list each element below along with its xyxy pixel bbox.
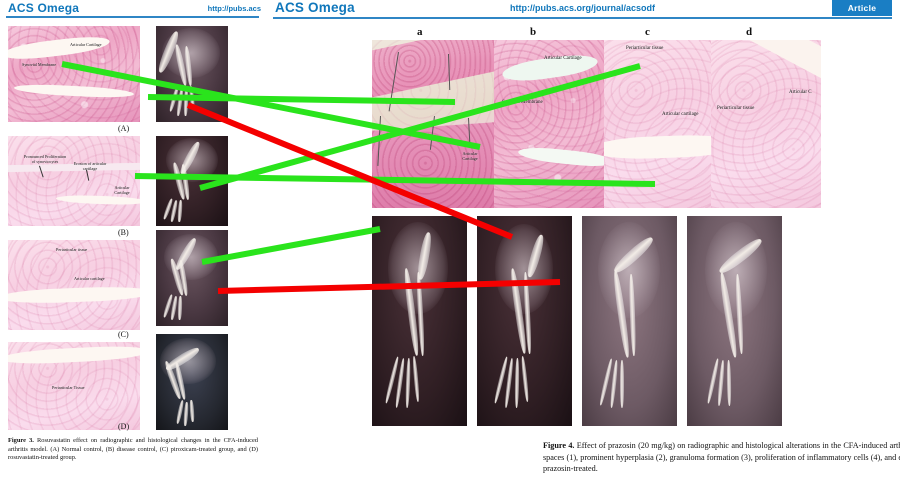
right-column-label-b: b [530,26,536,38]
left-sublabel-b: (B) [118,228,129,237]
right-column-label-c: c [645,26,650,38]
left-radiograph-c [156,230,228,326]
annotation-erosion: Erosion of articular cartilage [70,162,110,172]
left-histology-panel-a: Articular Cartilage Synovial Membrane [8,26,140,122]
article-badge: Article [832,0,892,16]
annotation-articular-cartilage: Articular Cartilage [544,56,582,62]
left-caption-text: Rosuvastatin effect on radiographic and … [8,437,258,461]
left-radiograph-a [156,26,228,122]
right-journal-page: ACS Omega http://pubs.acs.org/journal/ac… [265,0,900,482]
cartilage-band [8,33,111,62]
right-caption-text: Effect of prazosin (20 mg/kg) on radiogr… [543,441,900,473]
annotation-articular-cartilage: Articular Cartilage [70,43,102,48]
right-journal-title: ACS Omega [275,0,355,15]
annotation-articular-cartilage: Articular C [789,90,812,96]
right-column-label-a: a [417,26,423,38]
tissue-region [372,121,494,208]
right-figure-caption: Figure 4. Effect of prazosin (20 mg/kg) … [543,440,900,475]
right-histology-panel-d: Periarticular tissue Articular C [711,40,821,208]
right-histology-panel-b: Articular Cartilage Synovial Membrane [494,40,604,208]
right-histology-panel-c: Periarticular tissue Articular cartilage [604,40,711,208]
cartilage-band [14,83,134,99]
left-figure-caption: Figure 3. Rosuvastatin effect on radiogr… [8,437,258,463]
cartilage-band [56,194,140,205]
annotation-periarticular-tissue: Periarticular tissue [626,46,663,52]
annotation-articular-cartilage: Articular cartilage [662,112,699,118]
right-radiograph-a [372,216,467,426]
left-radiograph-b [156,136,228,226]
right-radiograph-b [477,216,572,426]
right-header-rule [273,17,892,19]
left-histology-panel-c: Periarticular tissue Articular cartilage [8,240,140,330]
left-sublabel-a: (A) [118,124,129,133]
left-histology-panel-b: Pronounced Proliferation of synoviocytes… [8,136,140,226]
right-radiograph-d [687,216,782,426]
left-journal-url: http://pubs.acs [208,4,261,13]
tissue-region [372,40,494,98]
left-running-header: ACS Omega http://pubs.acs [0,0,265,20]
annotation-periarticular-tissue: Periarticular tissue [56,248,87,253]
cartilage-band [8,344,140,366]
annotation-articular-cartilage: Articular Cartilage [456,152,484,162]
left-journal-title: ACS Omega [8,1,79,15]
left-histology-panel-d: Periarticular Tissue [8,342,140,430]
cartilage-band [604,133,711,160]
left-radiograph-d [156,334,228,430]
right-caption-label: Figure 4. [543,441,574,450]
right-column-label-d: d [746,26,752,38]
annotation-synovial-membrane: Synovial Membrane [502,100,543,106]
cartilage-band [734,40,821,93]
right-journal-url: http://pubs.acs.org/journal/acsodf [510,3,655,13]
annotation-periarticular-tissue: Periarticular Tissue [52,386,84,391]
right-running-header: ACS Omega http://pubs.acs.org/journal/ac… [265,0,900,20]
cartilage-band [518,145,604,169]
left-caption-label: Figure 3. [8,437,34,444]
right-histology-panel-a: Articular Cartilage [372,40,494,208]
left-journal-page: ACS Omega http://pubs.acs Articular Cart… [0,0,265,482]
left-sublabel-c: (C) [118,330,129,339]
annotation-proliferation: Pronounced Proliferation of synoviocytes [22,155,68,165]
annotation-periarticular-tissue: Periarticular tissue [717,106,754,112]
left-header-rule [6,16,259,18]
right-radiograph-c [582,216,677,426]
left-sublabel-d: (D) [118,422,129,431]
cartilage-band [8,285,140,304]
annotation-articular-cartilage: Articular Cartilage [107,186,137,196]
annotation-articular-cartilage: Articular cartilage [74,277,105,282]
annotation-synovial-membrane: Synovial Membrane [22,63,56,68]
